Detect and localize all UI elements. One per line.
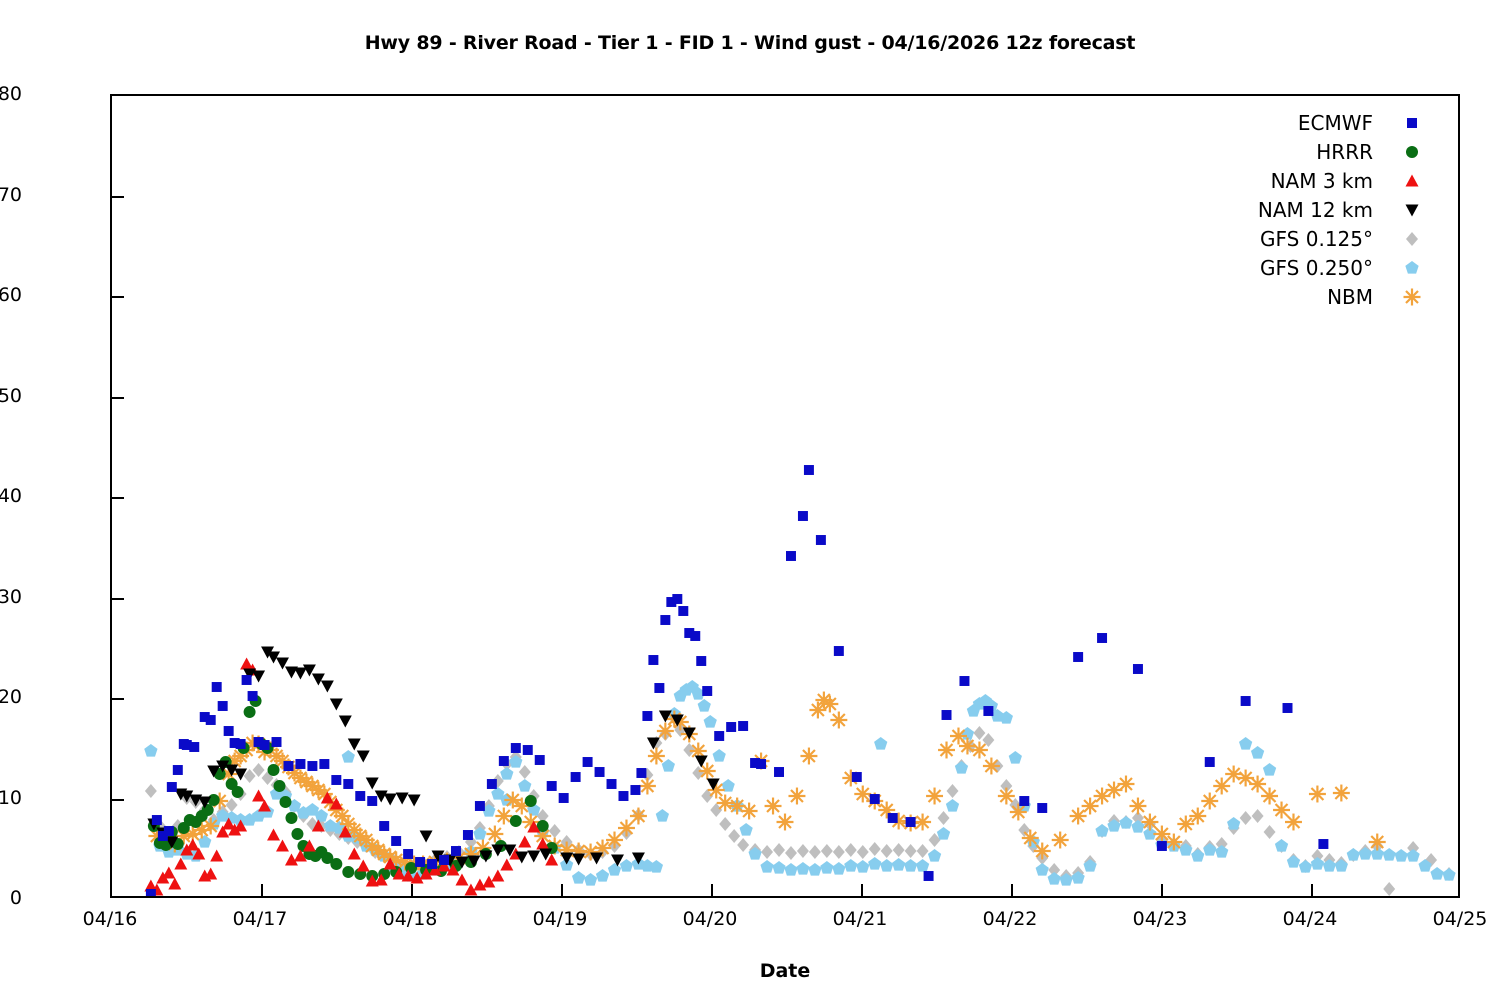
y-tick-mark xyxy=(112,397,124,399)
y-tick-label: 70 xyxy=(0,184,22,206)
pentagon-marker-icon xyxy=(1399,255,1425,281)
legend: ECMWFHRRRNAM 3 kmNAM 12 kmGFS 0.125°GFS … xyxy=(1150,108,1425,311)
x-tick-mark xyxy=(1011,884,1013,896)
square-marker-icon xyxy=(1399,110,1425,136)
triangle-up-marker-icon xyxy=(1399,168,1425,194)
legend-item-label: NBM xyxy=(1150,285,1399,309)
y-tick-label: 0 xyxy=(0,887,22,909)
y-tick-label: 20 xyxy=(0,686,22,708)
legend-item-ecmwf[interactable]: ECMWF xyxy=(1150,108,1425,137)
x-tick-label: 04/23 xyxy=(1100,908,1220,930)
legend-item-label: HRRR xyxy=(1150,140,1399,164)
legend-item-label: NAM 12 km xyxy=(1150,198,1399,222)
x-tick-mark xyxy=(1161,884,1163,896)
x-tick-mark xyxy=(861,884,863,896)
circle-marker-icon xyxy=(1399,139,1425,165)
legend-item-label: GFS 0.125° xyxy=(1150,227,1399,251)
y-tick-label: 40 xyxy=(0,485,22,507)
x-tick-mark xyxy=(561,884,563,896)
legend-item-gfs-0-125-[interactable]: GFS 0.125° xyxy=(1150,224,1425,253)
x-axis-label: Date xyxy=(110,960,1460,982)
page-title: Hwy 89 - River Road - Tier 1 - FID 1 - W… xyxy=(0,32,1500,54)
x-tick-label: 04/22 xyxy=(950,908,1070,930)
y-tick-label: 10 xyxy=(0,787,22,809)
legend-item-label: NAM 3 km xyxy=(1150,169,1399,193)
legend-item-label: GFS 0.250° xyxy=(1150,256,1399,280)
y-tick-mark xyxy=(112,799,124,801)
y-tick-label: 60 xyxy=(0,284,22,306)
y-tick-label: 30 xyxy=(0,586,22,608)
x-tick-mark xyxy=(411,884,413,896)
x-tick-label: 04/19 xyxy=(500,908,620,930)
x-tick-mark xyxy=(261,884,263,896)
y-tick-mark xyxy=(112,296,124,298)
legend-item-nam-12-km[interactable]: NAM 12 km xyxy=(1150,195,1425,224)
asterisk-marker-icon xyxy=(1399,284,1425,310)
y-tick-mark xyxy=(112,497,124,499)
y-tick-label: 80 xyxy=(0,83,22,105)
x-tick-label: 04/20 xyxy=(650,908,770,930)
y-tick-mark xyxy=(112,598,124,600)
x-tick-mark xyxy=(1311,884,1313,896)
x-tick-label: 04/16 xyxy=(50,908,170,930)
y-tick-mark xyxy=(112,196,124,198)
diamond-marker-icon xyxy=(1399,226,1425,252)
x-tick-label: 04/24 xyxy=(1250,908,1370,930)
legend-item-label: ECMWF xyxy=(1150,111,1399,135)
legend-item-hrrr[interactable]: HRRR xyxy=(1150,137,1425,166)
x-tick-label: 04/25 xyxy=(1400,908,1500,930)
legend-item-nbm[interactable]: NBM xyxy=(1150,282,1425,311)
x-tick-label: 04/21 xyxy=(800,908,920,930)
chart-screenshot: Hwy 89 - River Road - Tier 1 - FID 1 - W… xyxy=(0,0,1500,1000)
x-tick-label: 04/18 xyxy=(350,908,470,930)
x-tick-mark xyxy=(711,884,713,896)
y-tick-label: 50 xyxy=(0,385,22,407)
legend-item-gfs-0-250-[interactable]: GFS 0.250° xyxy=(1150,253,1425,282)
x-tick-label: 04/17 xyxy=(200,908,320,930)
legend-item-nam-3-km[interactable]: NAM 3 km xyxy=(1150,166,1425,195)
triangle-down-marker-icon xyxy=(1399,197,1425,223)
y-tick-mark xyxy=(112,698,124,700)
